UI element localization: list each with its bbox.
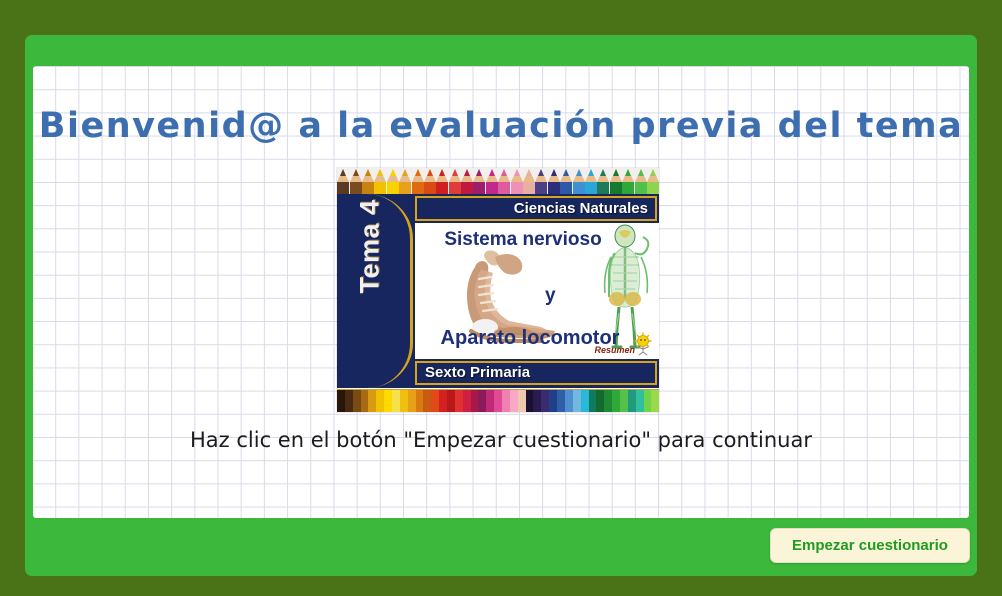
color-stripe: [628, 390, 636, 412]
color-stripe: [392, 390, 400, 412]
color-stripe: [400, 390, 408, 412]
color-stripe: [345, 390, 353, 412]
card-grade-label: Sexto Primaria: [425, 364, 530, 381]
color-stripe: [455, 390, 463, 412]
color-stripe: [416, 390, 424, 412]
start-quiz-button[interactable]: Empezar cuestionario: [770, 528, 970, 563]
pencil-icon: [337, 168, 349, 195]
color-stripe: [353, 390, 361, 412]
card-subject-label: Ciencias Naturales: [514, 200, 648, 217]
color-stripe: [368, 390, 376, 412]
color-stripe: [337, 390, 345, 412]
pencil-icon: [473, 168, 485, 195]
pencil-icon: [498, 168, 510, 195]
card-footer-bar: Sexto Primaria: [415, 361, 657, 385]
page-title: Bienvenid@ a la evaluación previa del te…: [33, 106, 969, 146]
color-stripe: [439, 390, 447, 412]
quiz-content-area: Bienvenid@ a la evaluación previa del te…: [33, 66, 969, 518]
pencil-icon: [572, 168, 584, 195]
crayon-color-strip-decoration: [337, 389, 659, 412]
color-stripe: [518, 390, 526, 412]
pencil-icon: [535, 168, 547, 195]
color-stripe: [589, 390, 597, 412]
pencil-icon: [411, 168, 423, 195]
color-stripe: [549, 390, 557, 412]
color-stripe: [471, 390, 479, 412]
color-stripe: [533, 390, 541, 412]
color-stripe: [502, 390, 510, 412]
pencil-icon: [387, 168, 399, 195]
pencil-icon: [634, 168, 646, 195]
color-stripe: [581, 390, 589, 412]
card-header-bar: Ciencias Naturales: [415, 196, 657, 221]
pencil-icon: [597, 168, 609, 195]
card-resumen-label: Resumen: [594, 345, 635, 355]
color-stripe: [486, 390, 494, 412]
color-stripe: [494, 390, 502, 412]
color-stripe: [447, 390, 455, 412]
card-line-1: Sistema nervioso: [420, 229, 626, 251]
color-stripe: [651, 390, 659, 412]
tema-cover-image: Tema 4 Ciencias Naturales: [337, 168, 659, 412]
quiz-panel: Bienvenid@ a la evaluación previa del te…: [25, 35, 977, 576]
color-stripe: [612, 390, 620, 412]
pencil-icon: [622, 168, 634, 195]
pencil-icon: [647, 168, 659, 195]
pencil-icon: [510, 168, 522, 195]
color-stripe: [423, 390, 431, 412]
color-stripe: [573, 390, 581, 412]
color-stripe: [596, 390, 604, 412]
color-stripe: [636, 390, 644, 412]
pencil-icon: [424, 168, 436, 195]
pencil-icon: [486, 168, 498, 195]
pencil-icon: [548, 168, 560, 195]
color-stripe: [376, 390, 384, 412]
pencil-icon: [449, 168, 461, 195]
pencil-icon: [399, 168, 411, 195]
pencil-icon: [523, 168, 535, 195]
pencil-icon: [585, 168, 597, 195]
instruction-text: Haz clic en el botón "Empezar cuestionar…: [33, 428, 969, 452]
color-stripe: [604, 390, 612, 412]
tema-number-label: Tema 4: [355, 177, 386, 317]
pencil-icon: [560, 168, 572, 195]
pencil-icon: [610, 168, 622, 195]
color-stripe: [644, 390, 652, 412]
color-stripe: [408, 390, 416, 412]
color-stripe: [557, 390, 565, 412]
color-stripe: [526, 390, 534, 412]
color-stripe: [384, 390, 392, 412]
pencil-icon: [436, 168, 448, 195]
card-line-2: y: [545, 285, 556, 307]
color-stripe: [361, 390, 369, 412]
color-stripe: [541, 390, 549, 412]
color-stripe: [620, 390, 628, 412]
color-stripe: [431, 390, 439, 412]
pencil-icon: [461, 168, 473, 195]
color-stripe: [565, 390, 573, 412]
color-stripe: [463, 390, 471, 412]
color-stripe: [478, 390, 486, 412]
color-stripe: [510, 390, 518, 412]
card-stage: Sistema nervioso y Aparato locomotor Res…: [415, 223, 659, 359]
